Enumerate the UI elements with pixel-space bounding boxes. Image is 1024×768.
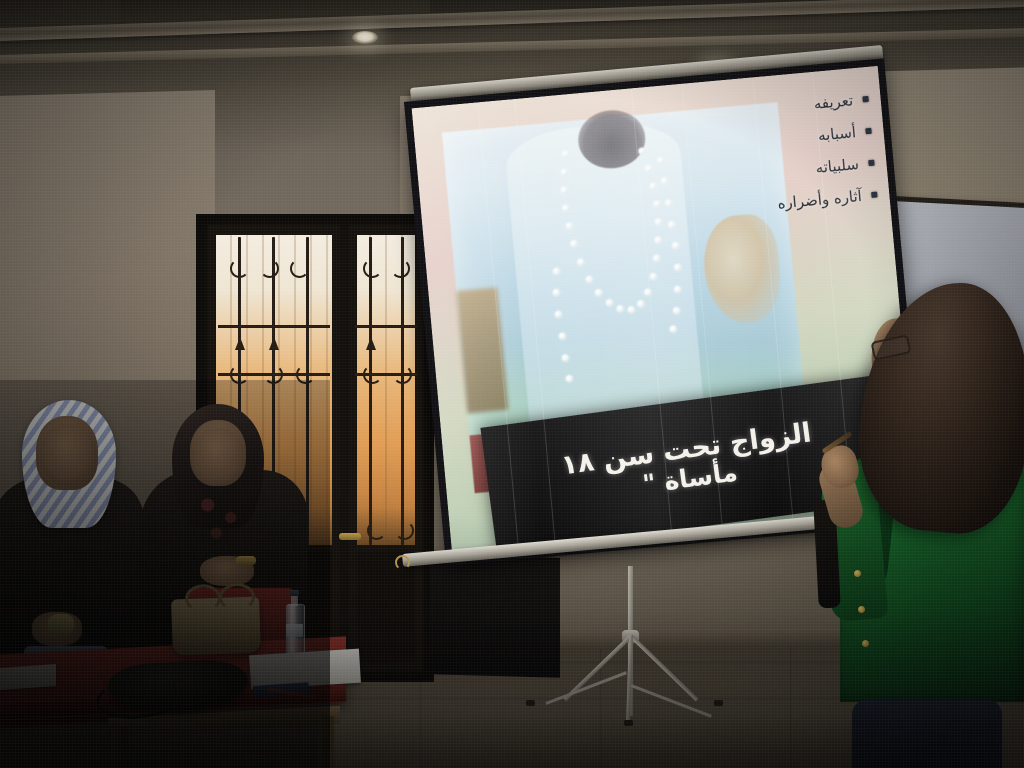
blazer-button <box>854 570 861 577</box>
iron-scroll-icon <box>296 365 315 384</box>
iron-bar <box>306 237 309 545</box>
bullet-dot-icon <box>863 95 870 102</box>
scarf-pattern <box>186 484 258 554</box>
held-object <box>48 614 74 634</box>
list-item: أسبابه <box>740 121 872 151</box>
tripod-foot <box>624 720 633 726</box>
bullet-dot-icon <box>866 127 873 134</box>
iron-spear-icon <box>235 337 245 350</box>
bullet-dot-icon <box>871 191 878 198</box>
iron-spear-icon <box>269 337 279 350</box>
list-item: آثاره وأضراره <box>746 185 878 215</box>
face <box>40 424 96 486</box>
projector-screen: تعريفه أسبابه سلبياته آثاره وأضراره <box>404 88 884 588</box>
iron-bar <box>369 237 372 545</box>
bottle-label <box>286 624 303 637</box>
blazer-button <box>858 606 865 613</box>
bullet-label: سلبياته <box>815 155 860 177</box>
iron-scroll-icon <box>363 365 382 384</box>
iron-spear-icon <box>366 337 376 350</box>
bullet-label: أسبابه <box>817 123 857 144</box>
table-leg <box>112 726 128 768</box>
iron-scroll-icon <box>230 365 249 384</box>
iron-scroll-icon <box>260 259 279 278</box>
bullet-label: تعريفه <box>813 91 854 113</box>
tripod-foot <box>714 700 723 706</box>
tan-handbag[interactable] <box>171 596 261 655</box>
iron-scroll-icon <box>363 259 382 278</box>
tripod-foot <box>526 700 535 706</box>
iron-scroll-icon <box>290 259 309 278</box>
blazer-button <box>862 640 869 647</box>
paper-sheet[interactable] <box>0 664 56 690</box>
iron-scroll-icon <box>367 521 386 540</box>
slide-bullet-list: تعريفه أسبابه سلبياته آثاره وأضراره <box>738 89 880 228</box>
trousers <box>852 700 1002 768</box>
face <box>192 428 244 486</box>
table-leg <box>318 716 334 768</box>
door-handle[interactable] <box>339 533 361 540</box>
bullet-label: آثاره وأضراره <box>777 187 863 213</box>
ceiling-light-icon <box>352 31 378 44</box>
iron-scroll-icon <box>264 365 283 384</box>
bullet-dot-icon <box>868 159 875 166</box>
bottle-cap[interactable] <box>290 590 299 596</box>
bracelet <box>236 556 256 565</box>
room-photo-scene: تعريفه أسبابه سلبياته آثاره وأضراره <box>0 0 1024 768</box>
list-item: سلبياته <box>743 153 875 183</box>
screen-hook-icon <box>394 554 410 570</box>
iron-rail <box>218 325 330 328</box>
iron-scroll-icon <box>230 259 249 278</box>
